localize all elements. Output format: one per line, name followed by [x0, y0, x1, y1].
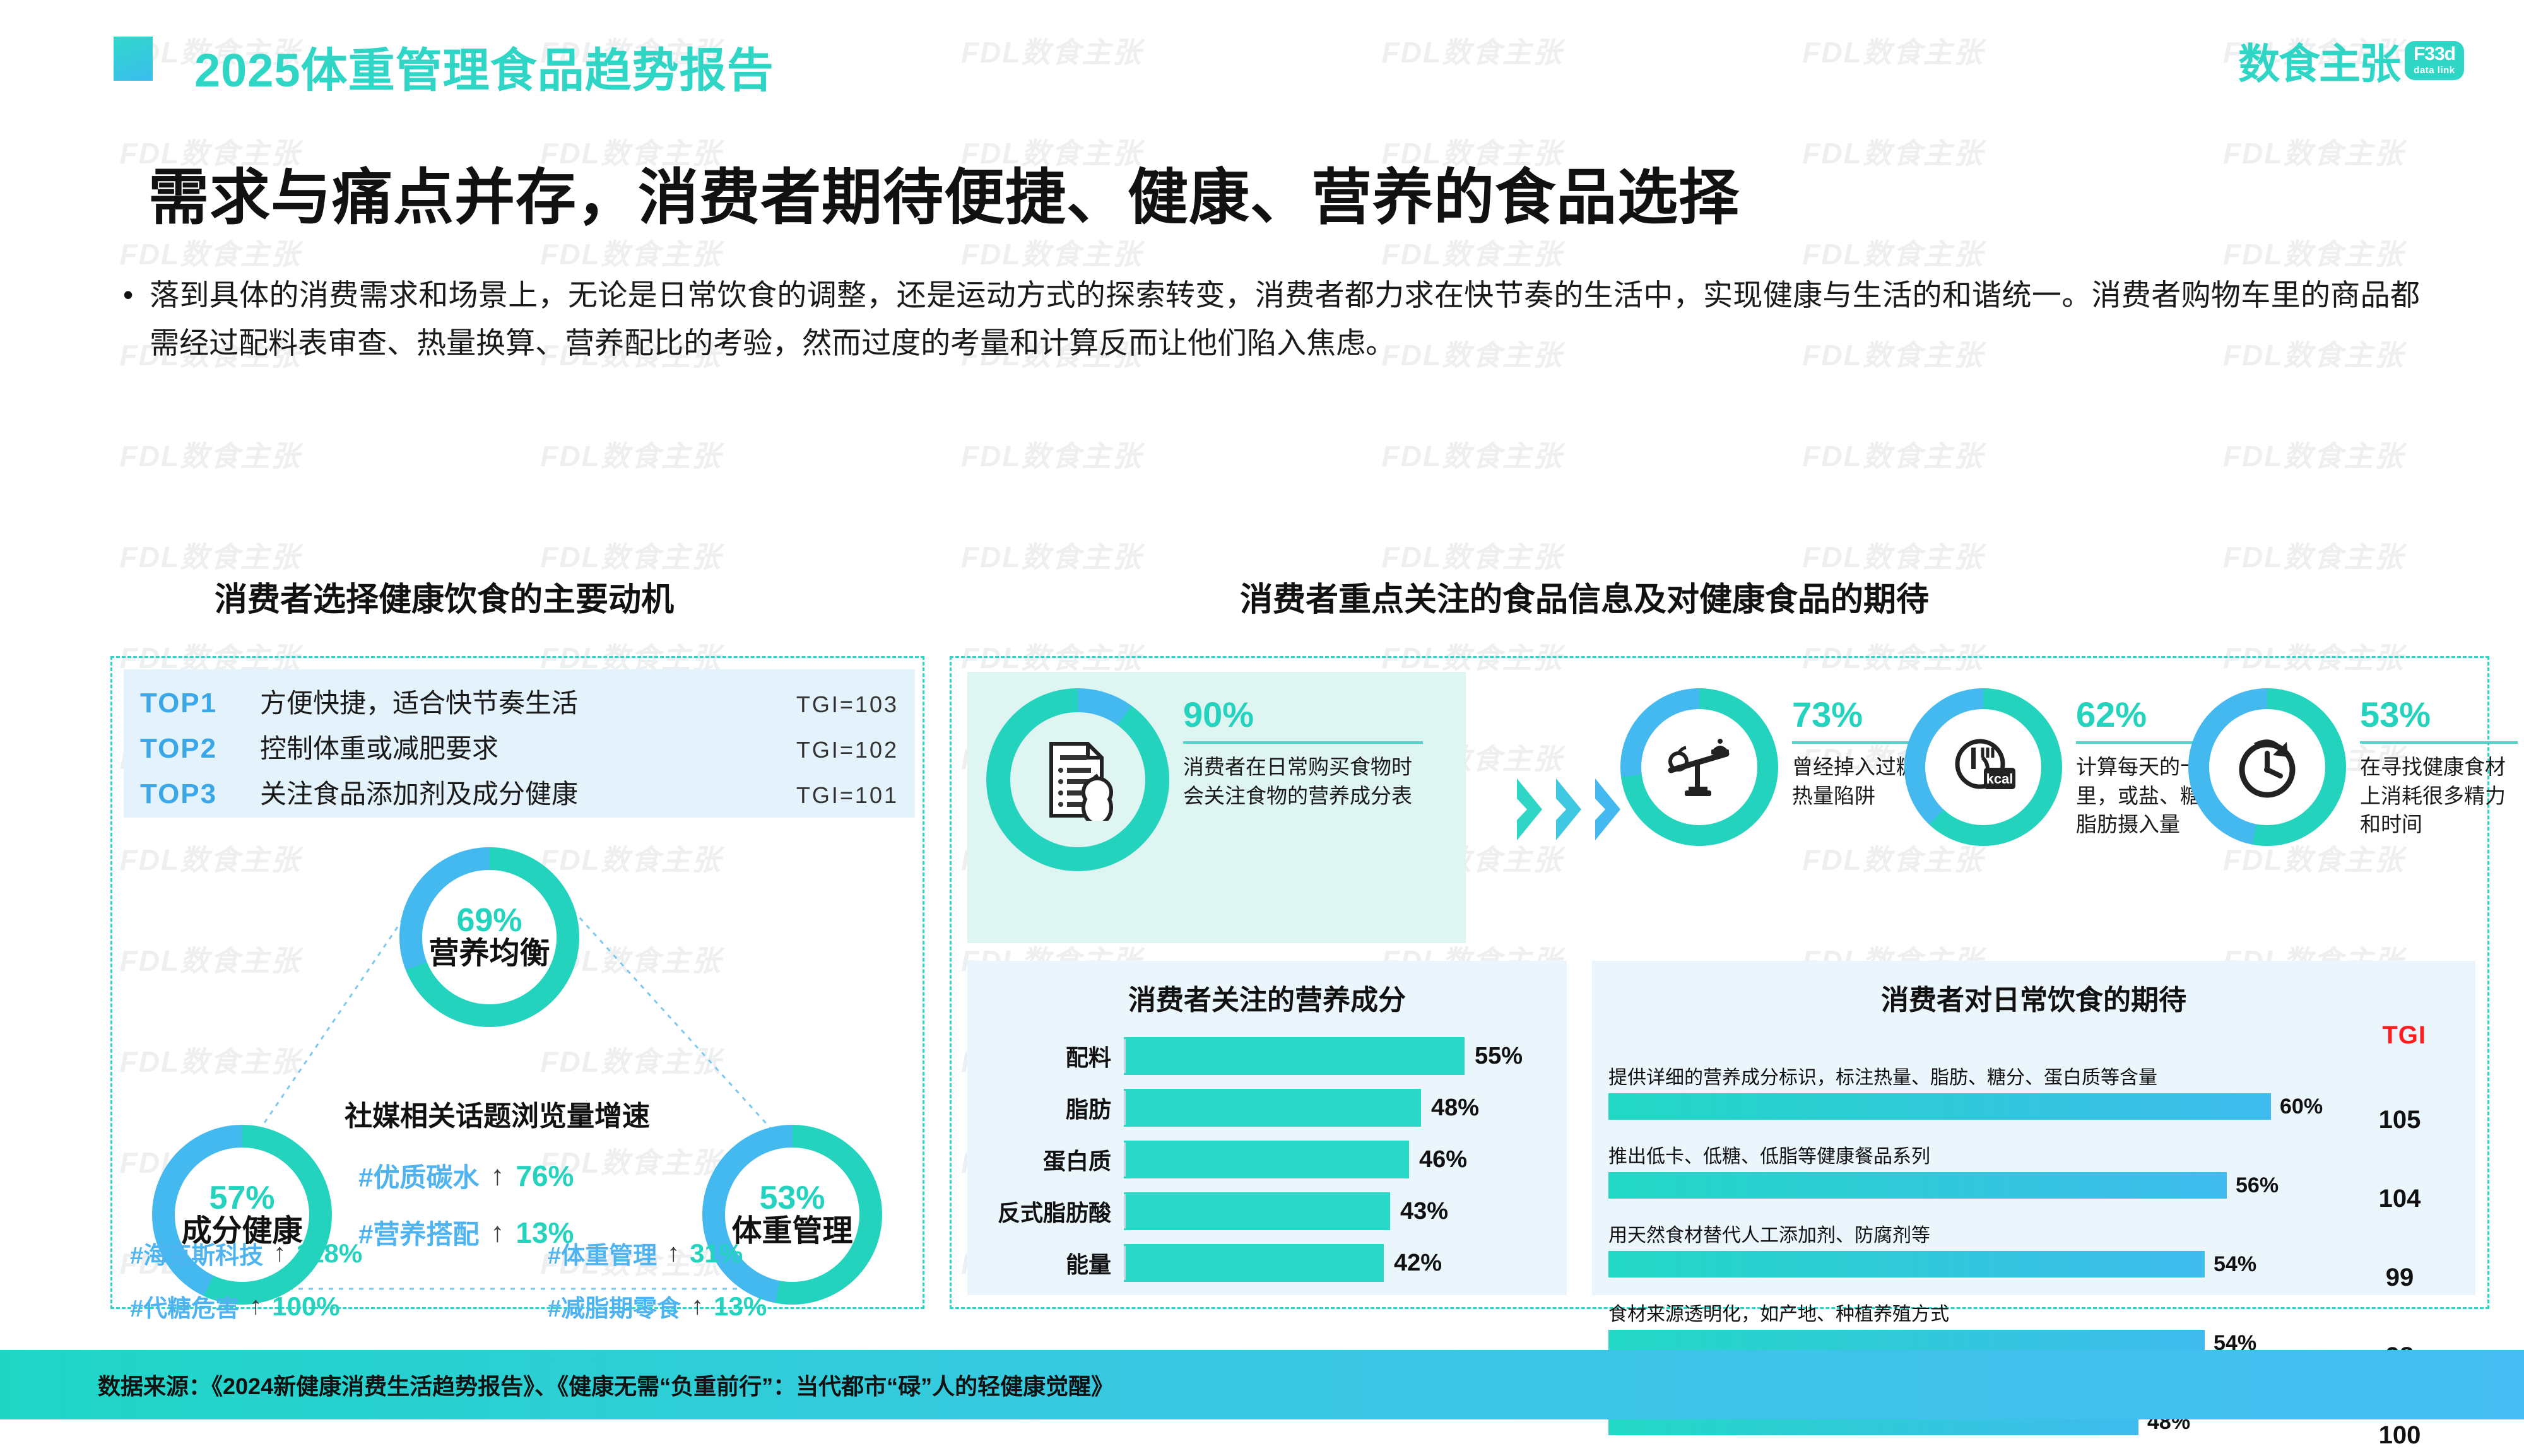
bar-category: 蛋白质 [967, 1143, 1124, 1176]
brand-badge-line1: F33d [2414, 45, 2455, 64]
intro-paragraph-block: • 落到具体的消费需求和场景上，无论是日常饮食的调整，还是运动方式的探索转变，消… [123, 271, 2420, 367]
bar-value: 55% [1475, 1043, 1523, 1070]
donut-percent: 69% [456, 903, 522, 938]
bar-chart-body: 配料 55% 脂肪 48% 蛋白质 46% 反式脂肪酸 43 [967, 1030, 1567, 1289]
bar-fill [1124, 1089, 1421, 1127]
watermark-text: FDL数食主张 [841, 534, 1262, 576]
bar-fill [1608, 1251, 2205, 1277]
watermark-text: FDL数食主张 [1683, 534, 2104, 576]
stat-description: 消费者在日常购买食物时会关注食物的营养成分表 [1183, 753, 1423, 810]
growth-value: 13% [714, 1291, 767, 1322]
donut-label: 营养均衡 [428, 937, 550, 971]
kcal-icon: kcal [1947, 732, 2020, 802]
axis-line [1124, 1246, 1126, 1280]
ring-progress: kcal [1904, 688, 2062, 846]
list-item: #海克斯科技 ↑ 118% [130, 1236, 362, 1271]
tgi-value: 99 [2362, 1264, 2438, 1292]
svg-text:kcal: kcal [1986, 771, 2013, 787]
watermark-text: FDL数食主张 [421, 534, 842, 576]
axis-line [1124, 1039, 1126, 1073]
list-item: #优质碳水 ↑ 76% [358, 1156, 574, 1195]
bullet-marker: • [123, 280, 133, 367]
hashtag-label: #海克斯科技 [130, 1236, 263, 1271]
watermark-text: FDL数食主张 [0, 433, 421, 475]
chart-nutrition-components: 消费者关注的营养成分 配料 55% 脂肪 48% 蛋白质 46% 反式脂 [967, 961, 1567, 1295]
brand-logo-text: 数食主张 [2238, 30, 2400, 91]
watermark-text: FDL数食主张 [841, 433, 1262, 475]
axis-line [1124, 1194, 1126, 1228]
tgi-column-header: TGI [2382, 1021, 2426, 1050]
bar-category: 用天然食材替代人工添加剂、防腐剂等 [1608, 1219, 2475, 1247]
divider [1183, 741, 1423, 744]
table-row: 蛋白质 46% [967, 1134, 1567, 1185]
bar-chart-body: 提供详细的营养成分标识，标注热量、脂肪、糖分、蛋白质等含量 60% 105 推出… [1592, 1062, 2475, 1295]
watermark-text: FDL数食主张 [1683, 131, 2104, 172]
donut-chart-weight-management: 53% 体重管理 [702, 1125, 882, 1305]
arrow-up-icon: ↑ [691, 1292, 704, 1320]
bar-category: 推出低卡、低糖、低脂等健康餐品系列 [1608, 1141, 2475, 1168]
bar-value: 48% [1431, 1095, 1479, 1122]
watermark-text: FDL数食主张 [421, 232, 842, 273]
bar-line: 54% [1608, 1251, 2475, 1277]
donut-chart-nutrition-balance: 69% 营养均衡 [399, 847, 579, 1027]
stat-card-sugar-trap: 73% 曾经掉入过糖分/热量陷阱 [1620, 688, 1950, 846]
stat-card-calorie-counting: kcal 62% 计算每天的卡路里，或盐、糖、脂肪摄入量 [1904, 688, 2234, 846]
watermark-text: FDL数食主张 [2103, 433, 2524, 475]
bar-value: 54% [2214, 1252, 2256, 1277]
chart-diet-expectations: 消费者对日常饮食的期待 TGI 提供详细的营养成分标识，标注热量、脂肪、糖分、蛋… [1592, 961, 2475, 1295]
headline: 需求与痛点并存，消费者期待便捷、健康、营养的食品选择 [148, 148, 1740, 236]
growth-value: 100% [272, 1291, 339, 1322]
hashtag-label: #优质碳水 [358, 1156, 479, 1195]
bar-fill [1608, 1172, 2227, 1199]
table-row: 反式脂肪酸 43% [967, 1185, 1567, 1237]
bar-value: 43% [1400, 1198, 1448, 1225]
divider [2360, 741, 2518, 744]
axis-line [1124, 1091, 1126, 1125]
data-source-text: 数据来源：《2024新健康消费生活趋势报告》、《健康无需“负重前行”：当代都市“… [98, 1368, 1114, 1401]
bar-value: 42% [1394, 1250, 1442, 1277]
left-panel: TOP1 方便快捷，适合快节奏生活 TGI=103 TOP2 控制体重或减肥要求… [110, 656, 924, 1309]
chart-title: 消费者对日常饮食的期待 [1592, 961, 2475, 1018]
donut-percent: 53% [759, 1181, 825, 1216]
growth-value: 31% [690, 1238, 743, 1269]
watermark-text: FDL数食主张 [1683, 433, 2104, 475]
donut-label: 体重管理 [731, 1215, 852, 1248]
table-row: 提供详细的营养成分标识，标注热量、脂肪、糖分、蛋白质等含量 60% 105 [1592, 1062, 2475, 1141]
stats-strip: 90% 消费者在日常购买食物时会关注食物的营养成分表 [952, 658, 2491, 945]
bar-fill [1608, 1093, 2271, 1120]
growth-value: 76% [516, 1159, 574, 1193]
tgi-value: 100 [2362, 1421, 2438, 1450]
donut-hole: 69% 营养均衡 [422, 870, 557, 1004]
list-item: #体重管理 ↑ 31% [548, 1236, 743, 1271]
stat-text-block: 53% 在寻找健康食材上消耗很多精力和时间 [2360, 688, 2518, 839]
watermark-text: FDL数食主张 [2103, 232, 2524, 273]
chart-title: 消费者关注的营养成分 [967, 961, 1567, 1018]
table-row: 脂肪 48% [967, 1082, 1567, 1134]
header-accent-square [114, 37, 153, 81]
scale-balance-icon [1663, 732, 1736, 802]
watermark-text: FDL数食主张 [421, 433, 842, 475]
growth-value: 118% [296, 1238, 362, 1269]
page-footer: 数据来源：《2024新健康消费生活趋势报告》、《健康无需“负重前行”：当代都市“… [0, 1350, 2524, 1419]
watermark-text: FDL数食主张 [1683, 232, 2104, 273]
table-row: 用天然食材替代人工添加剂、防腐剂等 54% 99 [1592, 1219, 2475, 1298]
donut-hole: 53% 体重管理 [725, 1148, 859, 1282]
watermark-text: FDL数食主张 [2103, 131, 2524, 172]
bar-category: 能量 [967, 1247, 1124, 1279]
bar-value: 46% [1419, 1146, 1467, 1173]
arrow-up-icon: ↑ [273, 1239, 286, 1267]
ring-hole [1641, 709, 1757, 825]
ring-progress [1620, 688, 1778, 846]
left-section-title: 消费者选择健康饮食的主要动机 [215, 573, 674, 620]
bar-value: 56% [2236, 1173, 2279, 1198]
watermark-text: FDL数食主张 [1262, 232, 1683, 273]
table-row: 配料 55% [967, 1030, 1567, 1082]
bar-fill [1124, 1141, 1409, 1178]
ring-hole [2209, 709, 2325, 825]
axis-line [1124, 1142, 1126, 1177]
right-panel: 90% 消费者在日常购买食物时会关注食物的营养成分表 [950, 656, 2489, 1309]
ring-hole [1010, 712, 1145, 847]
bar-line: 56% [1608, 1172, 2475, 1199]
brand-logo-badge: F33d data link [2405, 41, 2464, 80]
table-row: 能量 42% [967, 1237, 1567, 1289]
watermark-text: FDL数食主张 [1262, 433, 1683, 475]
donut-percent: 57% [209, 1181, 274, 1216]
clock-icon [2231, 732, 2304, 802]
stat-card-nutrition-label: 90% 消费者在日常购买食物时会关注食物的营养成分表 [986, 688, 1423, 871]
social-growth-title: 社媒相关话题浏览量增速 [321, 1093, 674, 1134]
bar-fill [1124, 1192, 1390, 1230]
watermark-text: FDL数食主张 [841, 232, 1262, 273]
list-item: #减脂期零食 ↑ 13% [548, 1289, 767, 1324]
stat-card-time-spent: 53% 在寻找健康食材上消耗很多精力和时间 [2188, 688, 2518, 846]
bar-value: 60% [2280, 1095, 2323, 1119]
stat-description: 在寻找健康食材上消耗很多精力和时间 [2360, 753, 2518, 839]
hashtag-label: #营养搭配 [358, 1213, 479, 1252]
bar-category: 提供详细的营养成分标识，标注热量、脂肪、糖分、蛋白质等含量 [1608, 1062, 2475, 1089]
tgi-value: 105 [2362, 1106, 2438, 1134]
ring-hole: kcal [1925, 709, 2041, 825]
hashtag-label: #体重管理 [548, 1236, 657, 1271]
bar-fill [1124, 1037, 1465, 1075]
watermark-text: FDL数食主张 [2103, 534, 2524, 576]
arrow-up-icon: ↑ [490, 1162, 504, 1190]
page-title: 2025体重管理食品趋势报告 [194, 33, 774, 100]
bar-category: 食材来源透明化，如产地、种植养殖方式 [1608, 1298, 2475, 1326]
page-header: 2025体重管理食品趋势报告 数食主张 F33d data link [0, 0, 2524, 107]
tgi-value: 104 [2362, 1185, 2438, 1213]
ring-progress [2188, 688, 2346, 846]
hashtag-label: #减脂期零食 [548, 1289, 681, 1324]
arrow-up-icon: ↑ [249, 1292, 262, 1320]
table-row: 推出低卡、低糖、低脂等健康餐品系列 56% 104 [1592, 1141, 2475, 1219]
brand-logo: 数食主张 F33d data link [2238, 30, 2464, 91]
stat-percent: 53% [2360, 697, 2518, 732]
stat-percent: 90% [1183, 697, 1423, 732]
bar-category: 配料 [967, 1040, 1124, 1072]
arrow-up-icon: ↑ [490, 1219, 504, 1247]
right-section-title: 消费者重点关注的食品信息及对健康食品的期待 [1240, 573, 1929, 620]
intro-paragraph: 落到具体的消费需求和场景上，无论是日常饮食的调整，还是运动方式的探索转变，消费者… [150, 271, 2420, 367]
donut-chart-ingredient-health: 57% 成分健康 [152, 1125, 332, 1305]
ring-progress [986, 688, 1169, 871]
nutrition-label-icon [1040, 739, 1116, 821]
bar-category: 反式脂肪酸 [967, 1195, 1124, 1228]
bar-category: 脂肪 [967, 1091, 1124, 1124]
list-item: #代糖危害 ↑ 100% [130, 1289, 340, 1324]
bar-line: 60% [1608, 1093, 2475, 1120]
watermark-text: FDL数食主张 [1262, 534, 1683, 576]
watermark-text: FDL数食主张 [0, 534, 421, 576]
chevron-triple-right-icon [1513, 775, 1629, 844]
list-item: #营养搭配 ↑ 13% [358, 1213, 574, 1252]
brand-badge-line2: data link [2414, 66, 2455, 75]
bar-fill [1124, 1244, 1384, 1282]
watermark-text: FDL数食主张 [0, 232, 421, 273]
arrow-up-icon: ↑ [667, 1239, 680, 1267]
stat-text-block: 90% 消费者在日常购买食物时会关注食物的营养成分表 [1183, 688, 1423, 810]
hashtag-label: #代糖危害 [130, 1289, 239, 1324]
